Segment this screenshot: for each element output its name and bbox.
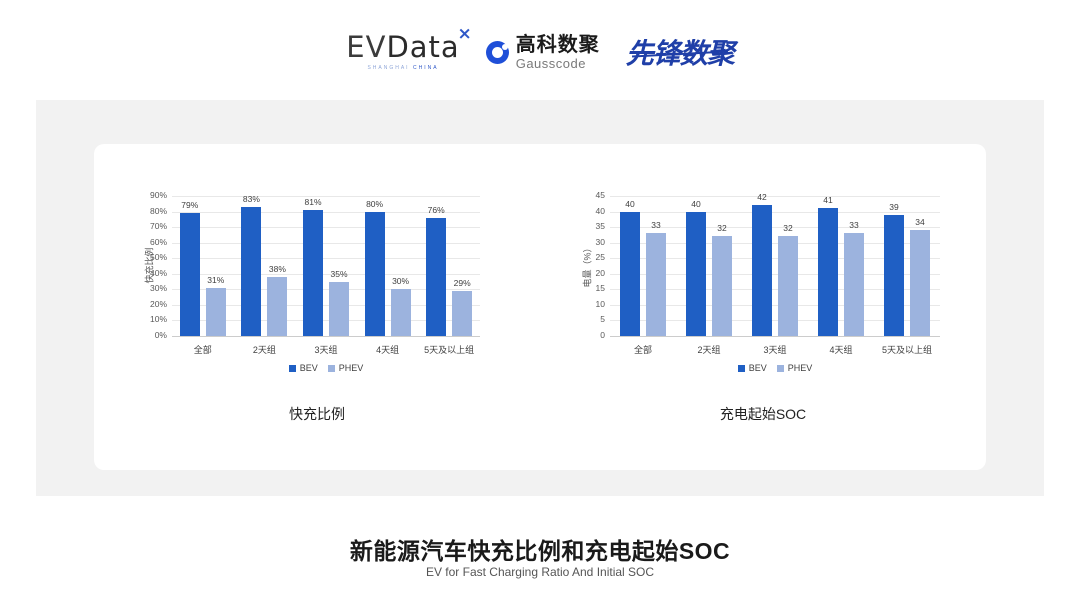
gausscode-text: 高科数聚 Gausscode (516, 35, 600, 70)
bar-value-label: 38% (259, 264, 295, 274)
chart-title: 充电起始SOC (540, 404, 986, 424)
x-axis-tick: 3天组 (742, 343, 808, 356)
bar-value-label: 33 (836, 220, 872, 230)
bar-phev (267, 277, 287, 336)
bar-phev (646, 233, 666, 336)
legend-item-phev[interactable]: PHEV (328, 363, 364, 373)
bar-value-label: 34 (902, 217, 938, 227)
gridline (610, 212, 940, 213)
evdata-sub-left: SHANGHAI (367, 65, 413, 71)
bar-value-label: 83% (233, 194, 269, 204)
bar-phev (778, 236, 798, 336)
bar-value-label: 31% (198, 275, 234, 285)
bar-phev (391, 289, 411, 336)
legend-label: PHEV (788, 363, 813, 373)
y-axis-tick: 20 (576, 268, 605, 278)
legend-swatch-icon (289, 365, 296, 372)
y-axis-tick: 30 (576, 237, 605, 247)
bar-bev (686, 212, 706, 336)
y-axis-tick: 50% (138, 252, 167, 262)
y-axis-tick: 0% (138, 330, 167, 340)
x-axis-tick: 2天组 (234, 343, 296, 356)
bar-phev (452, 291, 472, 336)
bar-value-label: 81% (295, 197, 331, 207)
y-axis-tick: 25 (576, 252, 605, 262)
x-axis-tick: 全部 (610, 343, 676, 356)
bar-bev (426, 218, 446, 336)
y-axis-tick: 10 (576, 299, 605, 309)
evdata-logo: EVData× SHANGHAI CHINA (346, 33, 459, 71)
legend-swatch-icon (328, 365, 335, 372)
bar-value-label: 40 (612, 199, 648, 209)
y-axis-tick: 15 (576, 283, 605, 293)
gausscode-cn: 高科数聚 (516, 35, 600, 55)
bar-value-label: 80% (357, 199, 393, 209)
evdata-ev-text: EV (346, 30, 386, 64)
legend-item-bev[interactable]: BEV (289, 363, 318, 373)
page-root: EVData× SHANGHAI CHINA 高科数聚 Gausscode 先锋… (0, 0, 1080, 608)
bar-value-label: 32 (770, 223, 806, 233)
evdata-x-icon: × (457, 26, 472, 43)
y-axis-tick: 20% (138, 299, 167, 309)
bar-value-label: 35% (321, 269, 357, 279)
bar-bev (818, 208, 838, 336)
chart-initial-soc: 电量（%）4540353025201510504033全部40322天组4232… (540, 144, 986, 470)
bar-value-label: 41 (810, 195, 846, 205)
chart-title: 快充比例 (94, 404, 540, 424)
legend-label: BEV (749, 363, 767, 373)
xianfeng-logo: 先锋数聚 (626, 32, 734, 72)
y-axis-tick: 5 (576, 314, 605, 324)
evdata-sub-right: CHINA (413, 65, 439, 71)
bar-value-label: 39 (876, 202, 912, 212)
x-axis-tick: 5天及以上组 (418, 343, 480, 356)
chart-legend: BEVPHEV (172, 363, 480, 373)
x-axis-tick: 5天及以上组 (874, 343, 940, 356)
charts-container: 快充比例90%80%70%60%50%40%30%20%10%0%79%31%全… (94, 144, 986, 470)
gausscode-logo: 高科数聚 Gausscode (486, 35, 600, 70)
charts-card: 快充比例90%80%70%60%50%40%30%20%10%0%79%31%全… (94, 144, 986, 470)
x-axis-tick: 2天组 (676, 343, 742, 356)
y-axis-tick: 40% (138, 268, 167, 278)
gausscode-en: Gausscode (516, 57, 600, 70)
y-axis-tick: 40 (576, 206, 605, 216)
gridline (610, 336, 940, 337)
legend-swatch-icon (738, 365, 745, 372)
bar-phev (910, 230, 930, 336)
legend-swatch-icon (777, 365, 784, 372)
content-panel: 快充比例90%80%70%60%50%40%30%20%10%0%79%31%全… (36, 100, 1044, 496)
bar-phev (844, 233, 864, 336)
y-axis-tick: 30% (138, 283, 167, 293)
bar-value-label: 40 (678, 199, 714, 209)
bar-value-label: 32 (704, 223, 740, 233)
bar-bev (620, 212, 640, 336)
bar-value-label: 29% (444, 278, 480, 288)
evdata-subtitle: SHANGHAI CHINA (367, 65, 438, 71)
gausscode-circle-icon (486, 41, 509, 64)
y-axis-tick: 45 (576, 190, 605, 200)
y-axis-tick: 10% (138, 314, 167, 324)
y-axis-tick: 70% (138, 221, 167, 231)
legend-label: PHEV (339, 363, 364, 373)
y-axis-tick: 0 (576, 330, 605, 340)
bar-bev (884, 215, 904, 336)
logo-bar: EVData× SHANGHAI CHINA 高科数聚 Gausscode 先锋… (0, 24, 1080, 80)
bar-bev (180, 213, 200, 336)
y-axis-tick: 80% (138, 206, 167, 216)
evdata-wordmark: EVData× (346, 33, 459, 62)
caption-main: 新能源汽车快充比例和充电起始SOC (0, 532, 1080, 566)
bar-phev (206, 288, 226, 336)
legend-item-bev[interactable]: BEV (738, 363, 767, 373)
bar-value-label: 42 (744, 192, 780, 202)
y-axis-tick: 90% (138, 190, 167, 200)
bar-value-label: 76% (418, 205, 454, 215)
bar-bev (241, 207, 261, 336)
x-axis-tick: 全部 (172, 343, 234, 356)
bar-phev (329, 282, 349, 336)
evdata-data-text: Data (386, 30, 459, 64)
x-axis-tick: 3天组 (295, 343, 357, 356)
legend-item-phev[interactable]: PHEV (777, 363, 813, 373)
bar-bev (303, 210, 323, 336)
caption-sub: EV for Fast Charging Ratio And Initial S… (0, 565, 1080, 579)
chart-legend: BEVPHEV (610, 363, 940, 373)
bar-value-label: 30% (383, 276, 419, 286)
gridline (172, 336, 480, 337)
bar-value-label: 33 (638, 220, 674, 230)
bar-bev (365, 212, 385, 336)
y-axis-tick: 60% (138, 237, 167, 247)
bar-bev (752, 205, 772, 336)
y-axis-tick: 35 (576, 221, 605, 231)
bar-value-label: 79% (172, 200, 208, 210)
chart-fast-charging-ratio: 快充比例90%80%70%60%50%40%30%20%10%0%79%31%全… (94, 144, 540, 470)
x-axis-tick: 4天组 (357, 343, 419, 356)
legend-label: BEV (300, 363, 318, 373)
x-axis-tick: 4天组 (808, 343, 874, 356)
bar-phev (712, 236, 732, 336)
